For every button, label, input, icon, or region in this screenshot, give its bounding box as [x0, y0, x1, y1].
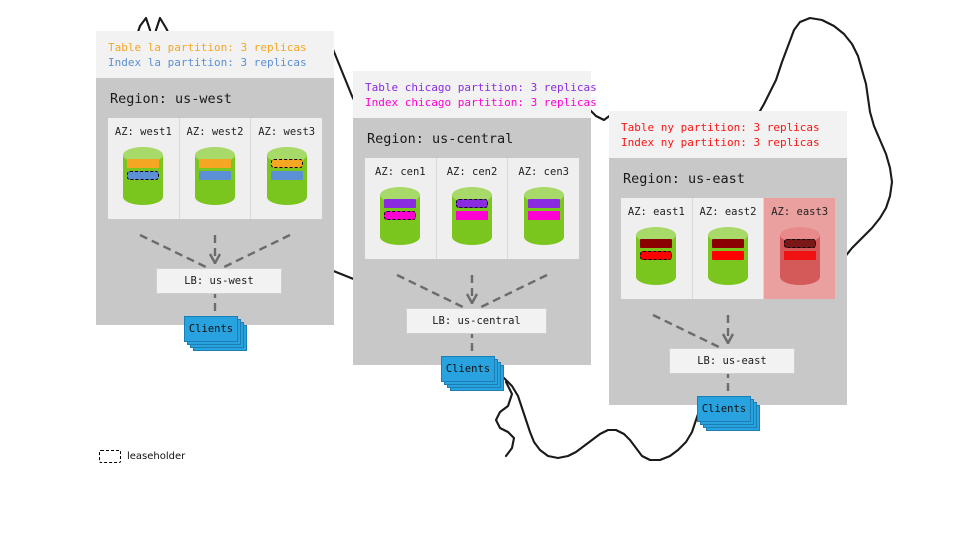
node-cylinder-east3-failed[interactable]: [778, 225, 822, 287]
clients-label: Clients: [189, 323, 233, 335]
clients-label: Clients: [702, 403, 746, 415]
us-map-path-detail: [496, 382, 514, 456]
clients-us-east[interactable]: Clients: [697, 396, 761, 432]
node-cylinder-west1[interactable]: [121, 145, 165, 207]
clients-box[interactable]: Clients: [697, 396, 751, 422]
band-table: [640, 239, 672, 248]
band-index: [199, 171, 231, 180]
partition-header-us-east: Table ny partition: 3 replicas Index ny …: [609, 111, 847, 158]
node-cylinder-west3[interactable]: [265, 145, 309, 207]
clients-label: Clients: [446, 363, 490, 375]
band-index: [712, 251, 744, 260]
load-balancer-us-west[interactable]: LB: us-west: [156, 268, 282, 294]
partition-header-us-west: Table la partition: 3 replicas Index la …: [96, 31, 334, 78]
band-index: [528, 211, 560, 220]
legend-label: leaseholder: [127, 451, 185, 462]
node-cylinder-cen1[interactable]: [378, 185, 422, 247]
replica-bands: [456, 199, 488, 223]
band-table: [127, 159, 159, 168]
region-panel-us-central: Table chicago partition: 3 replicas Inde…: [353, 71, 591, 365]
band-table: [528, 199, 560, 208]
region-body-us-west: Region: us-west AZ: west1 AZ: west2: [96, 78, 334, 325]
band-table: [384, 199, 416, 208]
node-cylinder-west2[interactable]: [193, 145, 237, 207]
lb-label: LB: us-west: [184, 275, 254, 287]
az-cell-east3[interactable]: AZ: east3: [764, 198, 835, 299]
node-cylinder-east1[interactable]: [634, 225, 678, 287]
region-title: Region: us-east: [609, 158, 847, 198]
clients-us-central[interactable]: Clients: [441, 356, 505, 392]
replica-bands: [784, 239, 816, 263]
region-title: Region: us-west: [96, 78, 334, 118]
az-label: AZ: cen2: [437, 166, 508, 178]
az-cell-east1[interactable]: AZ: east1: [621, 198, 693, 299]
band-table-leaseholder: [271, 159, 303, 168]
clients-box[interactable]: Clients: [184, 316, 238, 342]
az-label: AZ: cen1: [365, 166, 436, 178]
legend: leaseholder: [99, 450, 185, 463]
az-cell-west1[interactable]: AZ: west1: [108, 118, 180, 219]
band-table-leaseholder: [456, 199, 488, 208]
replica-bands: [384, 199, 416, 223]
node-cylinder-cen2[interactable]: [450, 185, 494, 247]
replica-bands: [127, 159, 159, 183]
region-panel-us-west: Table la partition: 3 replicas Index la …: [96, 31, 334, 325]
az-label: AZ: west2: [180, 126, 251, 138]
partition-table-line: Table la partition: 3 replicas: [108, 40, 322, 55]
az-cell-west3[interactable]: AZ: west3: [251, 118, 322, 219]
region-body-us-central: Region: us-central AZ: cen1 AZ: cen2: [353, 118, 591, 365]
az-cell-west2[interactable]: AZ: west2: [180, 118, 252, 219]
band-index-leaseholder: [127, 171, 159, 180]
az-strip-us-east: AZ: east1 AZ: east2: [621, 198, 835, 299]
partition-index-line: Index la partition: 3 replicas: [108, 55, 322, 70]
node-cylinder-cen3[interactable]: [522, 185, 566, 247]
band-index: [456, 211, 488, 220]
az-label: AZ: east3: [764, 206, 835, 218]
lb-label: LB: us-east: [697, 355, 767, 367]
az-label: AZ: west3: [251, 126, 322, 138]
az-cell-cen1[interactable]: AZ: cen1: [365, 158, 437, 259]
replica-bands: [640, 239, 672, 263]
az-label: AZ: east2: [693, 206, 764, 218]
clients-box[interactable]: Clients: [441, 356, 495, 382]
load-balancer-us-east[interactable]: LB: us-east: [669, 348, 795, 374]
replica-bands: [712, 239, 744, 263]
band-index: [784, 251, 816, 260]
band-index: [271, 171, 303, 180]
clients-us-west[interactable]: Clients: [184, 316, 248, 352]
replica-bands: [271, 159, 303, 183]
az-label: AZ: east1: [621, 206, 692, 218]
az-strip-us-central: AZ: cen1 AZ: cen2: [365, 158, 579, 259]
region-title: Region: us-central: [353, 118, 591, 158]
region-panel-us-east: Table ny partition: 3 replicas Index ny …: [609, 111, 847, 405]
band-table: [199, 159, 231, 168]
partition-header-us-central: Table chicago partition: 3 replicas Inde…: [353, 71, 591, 118]
az-cell-east2[interactable]: AZ: east2: [693, 198, 765, 299]
az-cell-cen2[interactable]: AZ: cen2: [437, 158, 509, 259]
band-table: [712, 239, 744, 248]
replica-bands: [528, 199, 560, 223]
partition-index-line: Index ny partition: 3 replicas: [621, 135, 835, 150]
az-strip-us-west: AZ: west1 AZ: west2: [108, 118, 322, 219]
lb-label: LB: us-central: [432, 315, 521, 327]
partition-index-line: Index chicago partition: 3 replicas: [365, 95, 579, 110]
band-index-leaseholder: [640, 251, 672, 260]
replica-bands: [199, 159, 231, 183]
load-balancer-us-central[interactable]: LB: us-central: [406, 308, 547, 334]
band-index-leaseholder: [384, 211, 416, 220]
region-body-us-east: Region: us-east AZ: east1 AZ: east2: [609, 158, 847, 405]
node-cylinder-east2[interactable]: [706, 225, 750, 287]
az-label: AZ: cen3: [508, 166, 579, 178]
az-label: AZ: west1: [108, 126, 179, 138]
az-cell-cen3[interactable]: AZ: cen3: [508, 158, 579, 259]
leaseholder-dashed-swatch-icon: [99, 450, 121, 463]
band-table-leaseholder: [784, 239, 816, 248]
partition-table-line: Table chicago partition: 3 replicas: [365, 80, 579, 95]
partition-table-line: Table ny partition: 3 replicas: [621, 120, 835, 135]
